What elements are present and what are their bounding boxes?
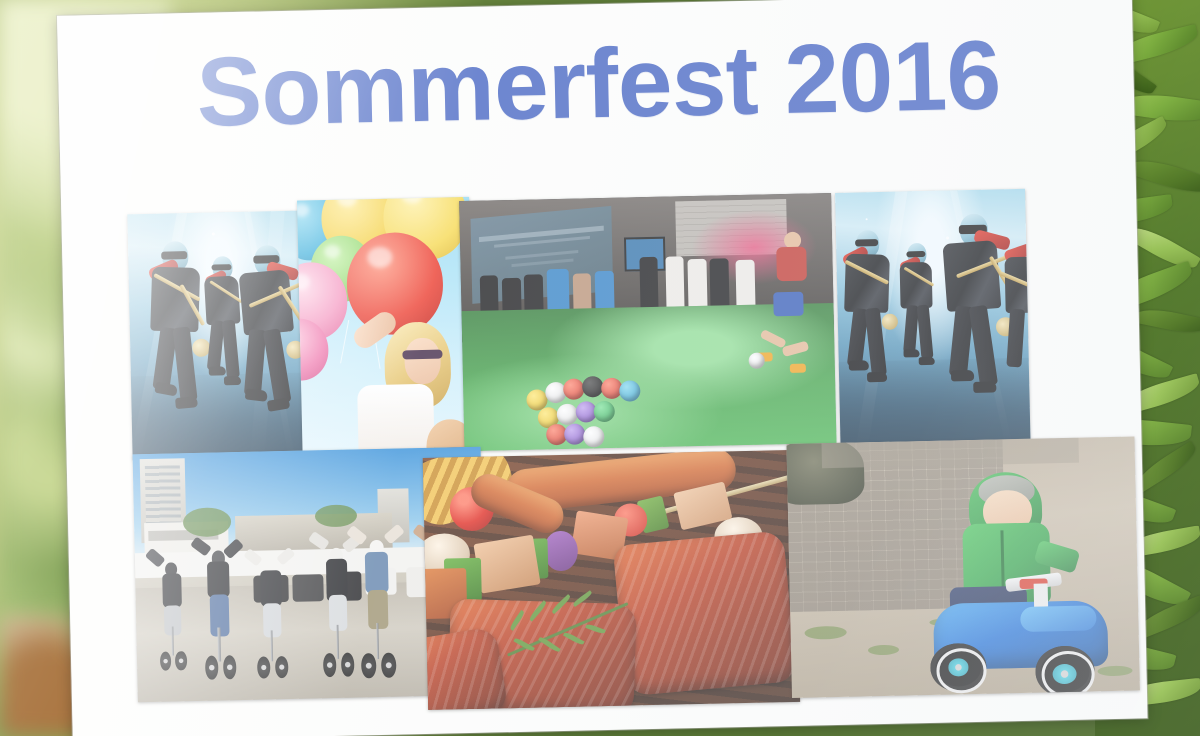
signboard-scene: Sommerfest 2016 (0, 0, 1200, 736)
photo-brass-band-right (835, 189, 1031, 449)
photo-balloons (297, 197, 475, 469)
display-board: Sommerfest 2016 (57, 0, 1148, 736)
photo-snookball (459, 193, 836, 451)
photo-brass-band-left (127, 210, 314, 460)
photo-bbq-grill (423, 450, 800, 710)
page-title: Sommerfest 2016 (118, 20, 1080, 149)
display-board-wrapper: Sommerfest 2016 (0, 0, 1200, 736)
photo-collage (69, 161, 1140, 709)
photo-child-bobby-car (787, 436, 1140, 698)
